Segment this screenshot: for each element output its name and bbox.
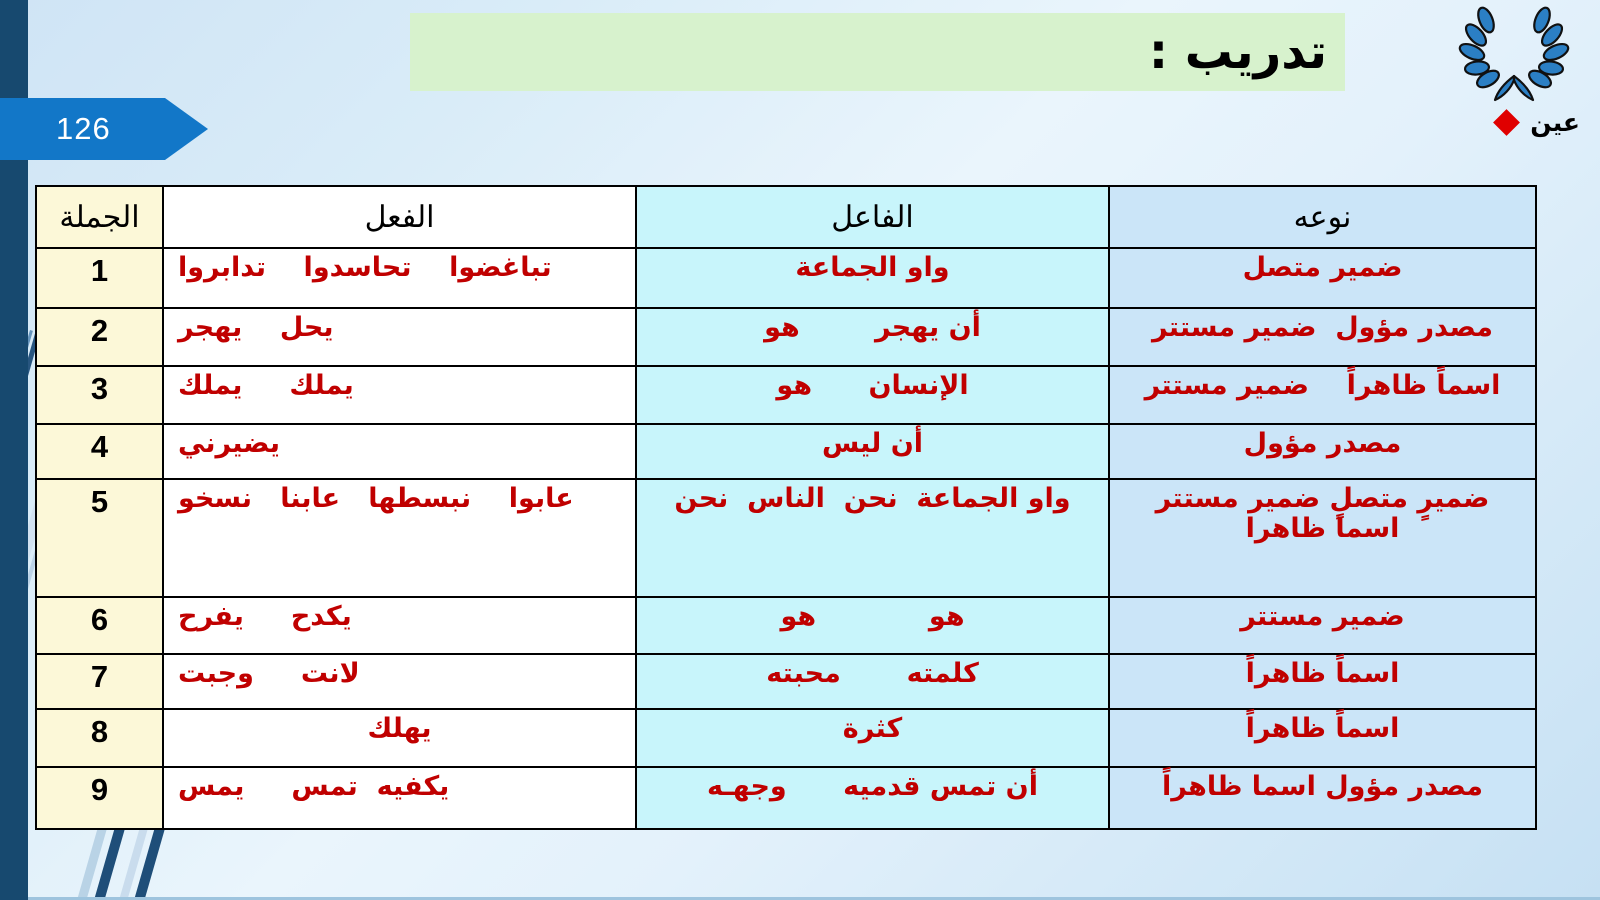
cell-number: 2 [36,308,163,366]
cell-subject: هو هو [636,597,1109,654]
title-banner: تدريب : [410,13,1345,91]
cell-type: مصدر مؤول اسما ظاهراً [1109,767,1536,829]
cell-verb: يضيرني [163,424,636,479]
column-header-subject: الفاعل [636,186,1109,248]
cell-subject: أن تمس قدميه وجهـه [636,767,1109,829]
table-row: ضمير مستتر هو هو يكدح يفرح 6 [36,597,1536,654]
brand-bullet-row: عين [1497,108,1580,137]
cell-type: اسماً ظاهراً ضمير مستتر [1109,366,1536,424]
cell-type: اسماً ظاهراً [1109,709,1536,767]
cell-verb: يهلك [163,709,636,767]
table-row: مصدر مؤول ضمير مستتر أن يهجر هو يحل يهجر… [36,308,1536,366]
left-band-notch-top [0,0,28,98]
cell-subject: أن ليس [636,424,1109,479]
cell-subject: أن يهجر هو [636,308,1109,366]
column-header-type: نوعه [1109,186,1536,248]
page-number-badge: 126 [0,98,208,160]
brand-label: عين [1530,108,1580,137]
cell-number: 4 [36,424,163,479]
cell-type: مصدر مؤول [1109,424,1536,479]
cell-verb: يحل يهجر [163,308,636,366]
cell-subject: واو الجماعة [636,248,1109,308]
cell-number: 6 [36,597,163,654]
cell-verb: لانت وجبت [163,654,636,709]
grammar-table-wrapper: نوعه الفاعل الفعل الجملة ضمير متصل واو ا… [37,185,1537,830]
cell-number: 9 [36,767,163,829]
table-row: اسماً ظاهراً ضمير مستتر الإنسان هو يملك … [36,366,1536,424]
cell-verb: يكفيه تمس يمس [163,767,636,829]
cell-subject: الإنسان هو [636,366,1109,424]
table-header-row: نوعه الفاعل الفعل الجملة [36,186,1536,248]
cell-subject: واو الجماعة نحن الناس نحن [636,479,1109,597]
table-row: مصدر مؤول اسما ظاهراً أن تمس قدميه وجهـه… [36,767,1536,829]
column-header-verb: الفعل [163,186,636,248]
page-number-label: 126 [56,111,111,147]
cell-verb: يملك يملك [163,366,636,424]
table-row: اسماً ظاهراً كثرة يهلك 8 [36,709,1536,767]
cell-number: 1 [36,248,163,308]
cell-type: ضمير متصل [1109,248,1536,308]
table-row: ضميرٍ متصلٍ ضمير مستتر اسما ظاهرا واو ال… [36,479,1536,597]
cell-verb: عابوا نبسطها عابنا نسخو [163,479,636,597]
cell-number: 7 [36,654,163,709]
cell-type: ضمير مستتر [1109,597,1536,654]
laurel-wreath-icon [1454,4,1574,104]
table-row: ضمير متصل واو الجماعة تباغضوا تحاسدوا تد… [36,248,1536,308]
cell-number: 8 [36,709,163,767]
table-row: مصدر مؤول أن ليس يضيرني 4 [36,424,1536,479]
red-diamond-bullet-icon [1493,109,1520,136]
table-row: اسماً ظاهراً كلمته محبته لانت وجبت 7 [36,654,1536,709]
grammar-table: نوعه الفاعل الفعل الجملة ضمير متصل واو ا… [35,185,1537,830]
cell-type: مصدر مؤول ضمير مستتر [1109,308,1536,366]
left-band-notch-bottom [0,160,28,900]
cell-number: 5 [36,479,163,597]
cell-number: 3 [36,366,163,424]
slide-canvas: 126 تدريب : [0,0,1600,900]
column-header-number: الجملة [36,186,163,248]
cell-type: اسماً ظاهراً [1109,654,1536,709]
page-title: تدريب : [1149,28,1327,76]
cell-subject: كثرة [636,709,1109,767]
cell-type: ضميرٍ متصلٍ ضمير مستتر اسما ظاهرا [1109,479,1536,597]
cell-subject: كلمته محبته [636,654,1109,709]
cell-verb: تباغضوا تحاسدوا تدابروا [163,248,636,308]
cell-verb: يكدح يفرح [163,597,636,654]
